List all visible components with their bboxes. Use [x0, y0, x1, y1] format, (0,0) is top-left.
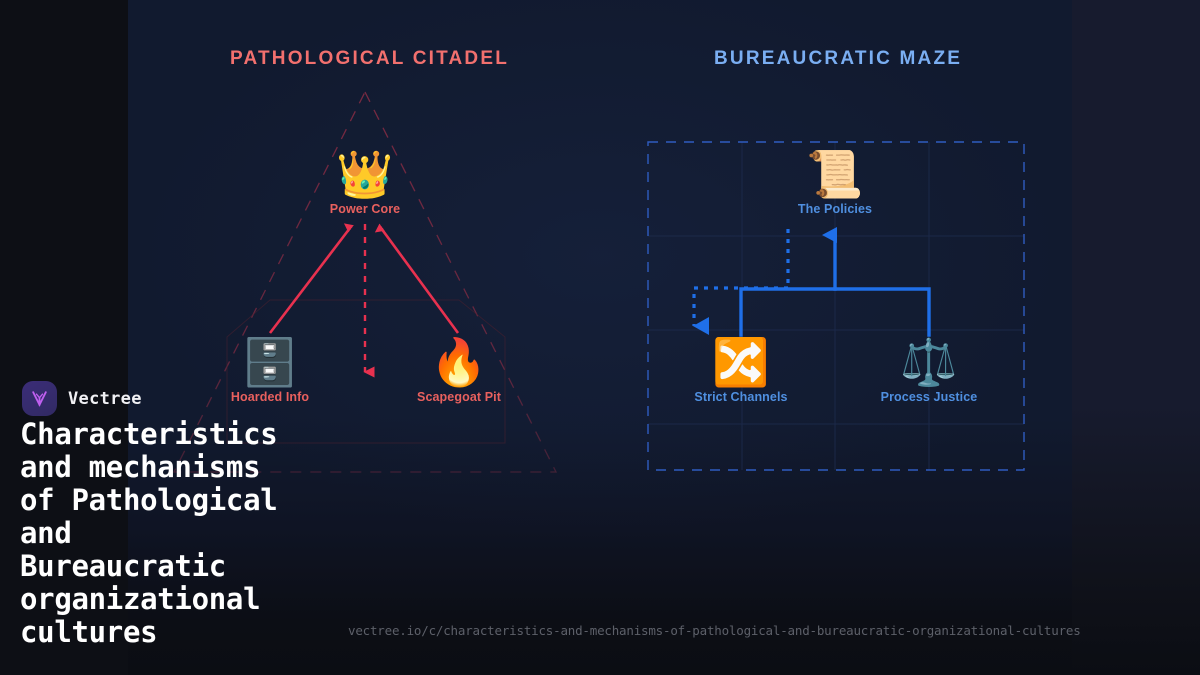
node-label-hoarded-info: Hoarded Info	[200, 390, 340, 404]
file-cabinet-icon: 🗄️	[200, 336, 340, 388]
node-hoarded-info[interactable]: 🗄️ Hoarded Info	[200, 336, 340, 404]
vectree-logo-icon	[22, 381, 57, 416]
scroll-icon: 📜	[765, 148, 905, 200]
node-power-core[interactable]: 👑 Power Core	[295, 148, 435, 216]
node-label-power-core: Power Core	[295, 202, 435, 216]
brand: Vectree	[22, 381, 142, 416]
node-strict-channels[interactable]: 🔀 Strict Channels	[671, 336, 811, 404]
balance-scale-icon: ⚖️	[859, 336, 999, 388]
brand-name: Vectree	[68, 389, 142, 409]
node-process-justice[interactable]: ⚖️ Process Justice	[859, 336, 999, 404]
crown-icon: 👑	[295, 148, 435, 200]
fire-icon: 🔥	[389, 336, 529, 388]
shuffle-arrows-icon: 🔀	[671, 336, 811, 388]
source-url: vectree.io/c/characteristics-and-mechani…	[348, 623, 1081, 638]
edge-justice-to-policies	[835, 289, 929, 335]
edge-scapegoat-to-power	[381, 228, 458, 333]
slide-canvas: PATHOLOGICAL CITADEL BUREAUCRATIC MAZE	[0, 0, 1200, 675]
node-label-strict-channels: Strict Channels	[671, 390, 811, 404]
edge-hoarded-to-power	[270, 228, 350, 333]
page-title: Characteristics and mechanisms of Pathol…	[20, 418, 380, 649]
node-label-the-policies: The Policies	[765, 202, 905, 216]
node-label-scapegoat-pit: Scapegoat Pit	[389, 390, 529, 404]
node-label-process-justice: Process Justice	[859, 390, 999, 404]
edge-channels-to-policies	[741, 289, 835, 335]
node-the-policies[interactable]: 📜 The Policies	[765, 148, 905, 216]
node-scapegoat-pit[interactable]: 🔥 Scapegoat Pit	[389, 336, 529, 404]
